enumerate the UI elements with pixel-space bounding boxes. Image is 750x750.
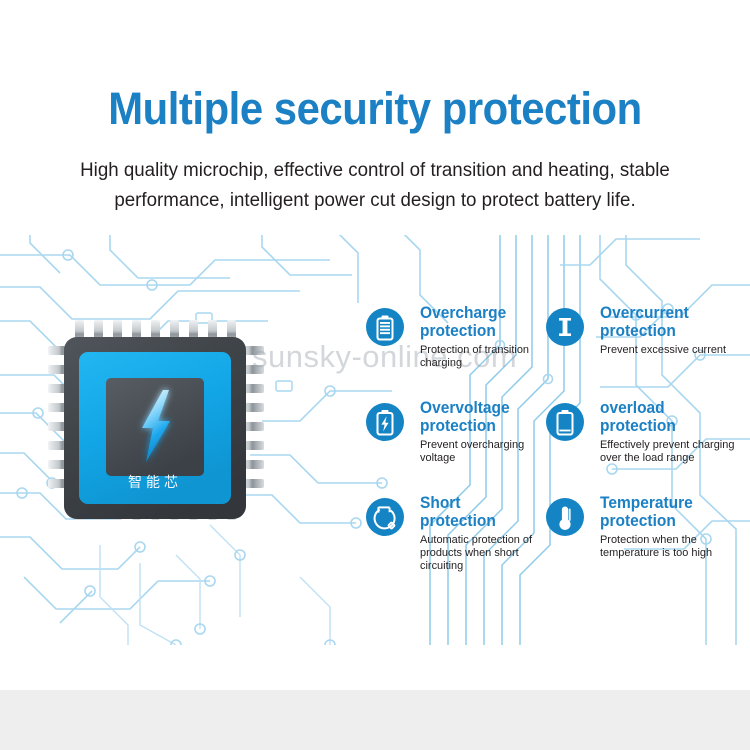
feature-title-line1: Overcurrent (600, 305, 741, 323)
feature-title-line2: protection (420, 418, 544, 436)
header-section: Multiple security protection High qualit… (0, 0, 750, 235)
feature-text: Overvoltage protection Prevent overcharg… (420, 400, 552, 465)
feature-description: Protection of transition charging (420, 344, 548, 370)
infographic-page: sunsky-online.com (0, 0, 750, 750)
feature-description: Automatic protection of products when sh… (420, 534, 548, 573)
feature-description: Prevent overcharging voltage (420, 439, 548, 465)
battery-charging-icon (366, 308, 404, 346)
feature-title-line1: overload (600, 400, 741, 418)
feature-title-line1: Short (420, 495, 544, 513)
feature-title-line1: Overcharge (420, 305, 544, 323)
chip-label: 智能芯 (106, 472, 204, 492)
feature-text: Temperature protection Protection when t… (600, 495, 750, 560)
page-subtitle: High quality microchip, effective contro… (50, 155, 701, 215)
battery-bolt-icon (366, 403, 404, 441)
feature-title-line2: protection (420, 513, 544, 531)
feature-title-line2: protection (600, 323, 741, 341)
feature-description: Protection when the temperature is too h… (600, 534, 746, 560)
feature-title-line2: protection (420, 323, 544, 341)
feature-grid: Overcharge protection Protection of tran… (366, 305, 746, 590)
feature-description: Prevent excessive current (600, 344, 746, 357)
current-i-icon (546, 308, 584, 346)
feature-text: Overcurrent protection Prevent excessive… (600, 305, 750, 357)
bottom-band (0, 690, 750, 750)
thermometer-icon (546, 498, 584, 536)
feature-title-line2: protection (600, 513, 741, 531)
feature-text: overload protection Effectively prevent … (600, 400, 750, 465)
page-title: Multiple security protection (26, 84, 724, 134)
short-circuit-loop-icon (366, 498, 404, 536)
feature-title-line2: protection (600, 418, 741, 436)
feature-description: Effectively prevent charging over the lo… (600, 439, 746, 465)
feature-text: Overcharge protection Protection of tran… (420, 305, 552, 370)
microchip-graphic: 智能芯 (46, 300, 296, 550)
feature-title-line1: Overvoltage (420, 400, 544, 418)
feature-title-line1: Temperature (600, 495, 741, 513)
feature-text: Short protection Automatic protection of… (420, 495, 552, 573)
battery-outline-icon (546, 403, 584, 441)
